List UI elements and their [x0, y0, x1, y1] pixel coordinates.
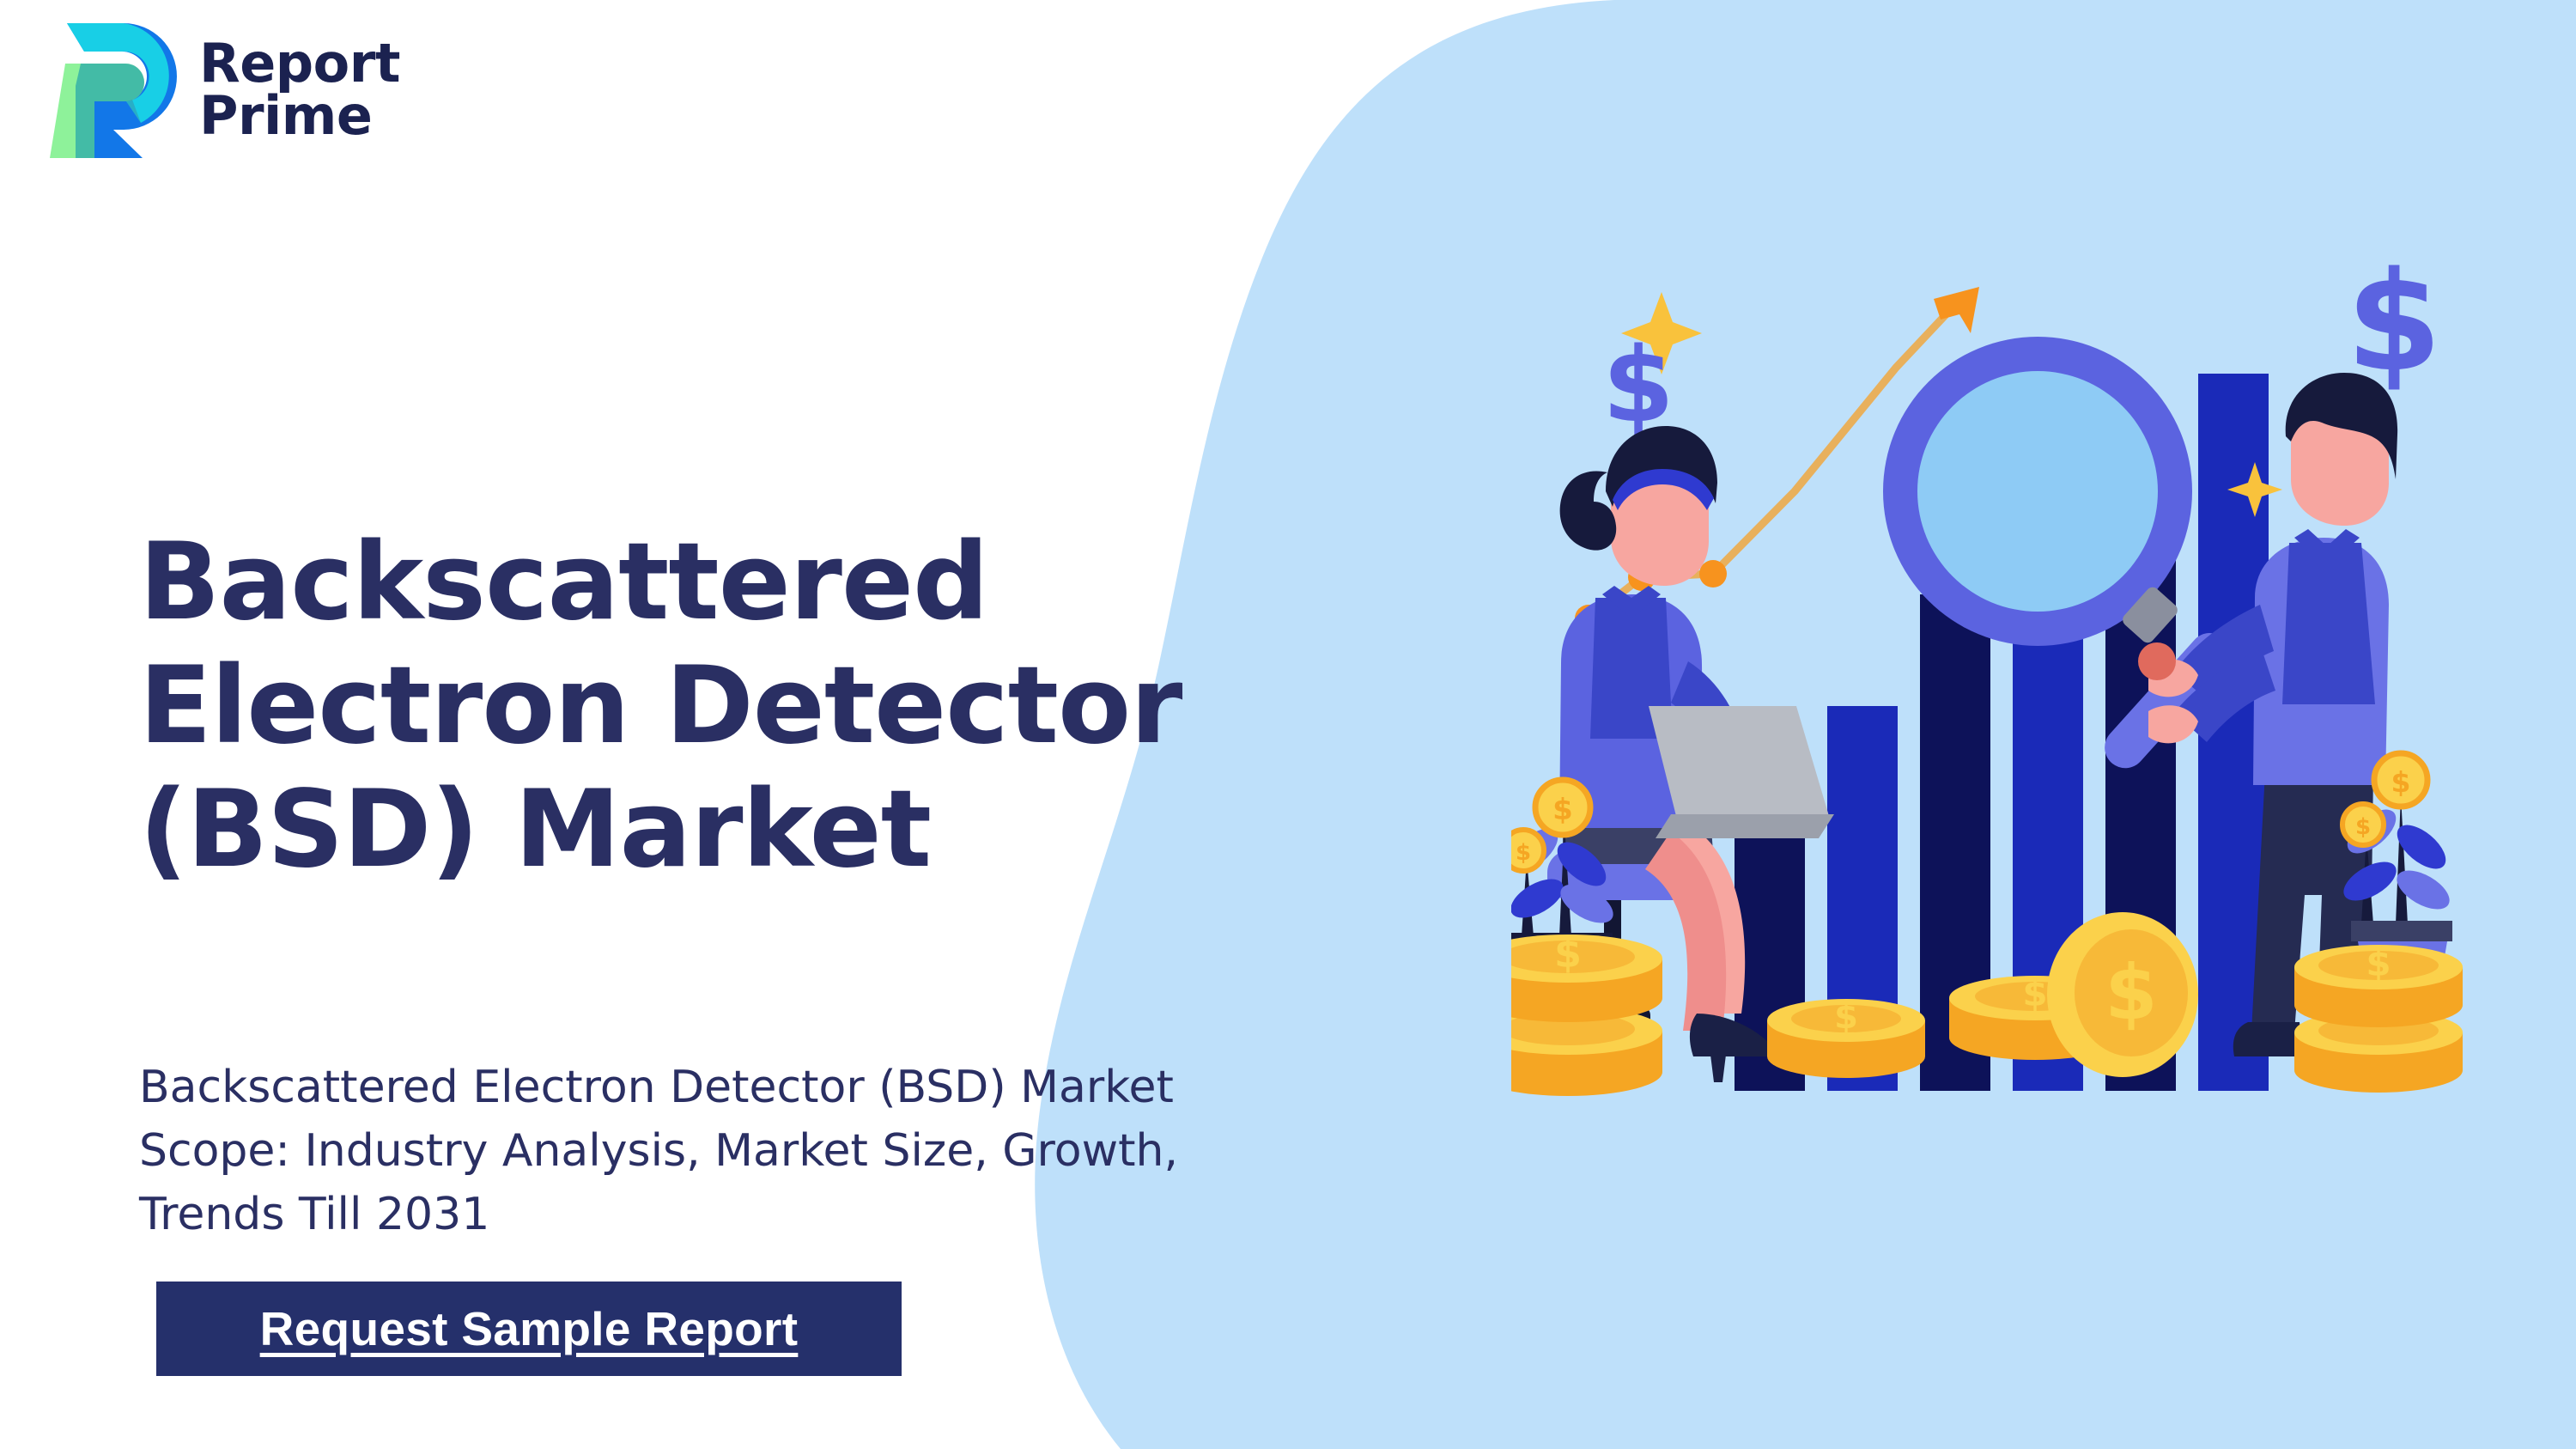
coin-single-middle: $	[1767, 997, 1925, 1078]
plant-pot-rim-right	[2351, 921, 2452, 941]
svg-text:$: $	[1516, 840, 1531, 866]
market-research-illustration: $ $	[1511, 258, 2464, 1099]
coin-standing-large: $	[2047, 912, 2198, 1077]
report-prime-logo-mark-icon	[31, 19, 177, 161]
brand-wordmark: Report Prime	[199, 38, 400, 143]
svg-text:$: $	[2391, 765, 2411, 799]
page-subtitle: Backscattered Electron Detector (BSD) Ma…	[139, 1056, 1453, 1246]
laptop-screen	[1649, 706, 1829, 816]
plant-stem-right-1	[2396, 795, 2408, 924]
svg-text:$: $	[1554, 930, 1582, 977]
coin-stack-left: $	[1511, 930, 1662, 1096]
man-shoe-left	[2233, 1022, 2303, 1056]
page-title: Backscattered Electron Detector (BSD) Ma…	[139, 521, 1650, 892]
request-sample-report-label: Request Sample Report	[260, 1301, 799, 1356]
svg-text:$: $	[1552, 793, 1573, 827]
brand-name-line-1: Report	[199, 38, 400, 90]
svg-text:$: $	[2022, 972, 2047, 1014]
coin-stack-far-right: $	[2294, 942, 2463, 1093]
woman-shoe-heel	[1710, 1055, 1726, 1082]
svg-text:$: $	[2355, 814, 2371, 840]
request-sample-report-button[interactable]: Request Sample Report	[156, 1282, 902, 1376]
svg-text:$: $	[2366, 942, 2391, 984]
brand-name-line-2: Prime	[199, 90, 400, 143]
brand-logo[interactable]: Report Prime	[31, 19, 400, 161]
trend-arrow-head-icon	[1934, 287, 1979, 333]
man-vest	[2282, 543, 2375, 704]
market-report-hero-banner: Report Prime Backscattered Electron Dete…	[0, 0, 2576, 1449]
laptop-base	[1656, 814, 1834, 838]
trend-point-3	[1699, 560, 1727, 588]
svg-text:$: $	[2105, 948, 2157, 1037]
svg-text:$: $	[1834, 997, 1858, 1037]
magnifier-lens	[1917, 371, 2158, 612]
man-grip	[2138, 642, 2176, 680]
